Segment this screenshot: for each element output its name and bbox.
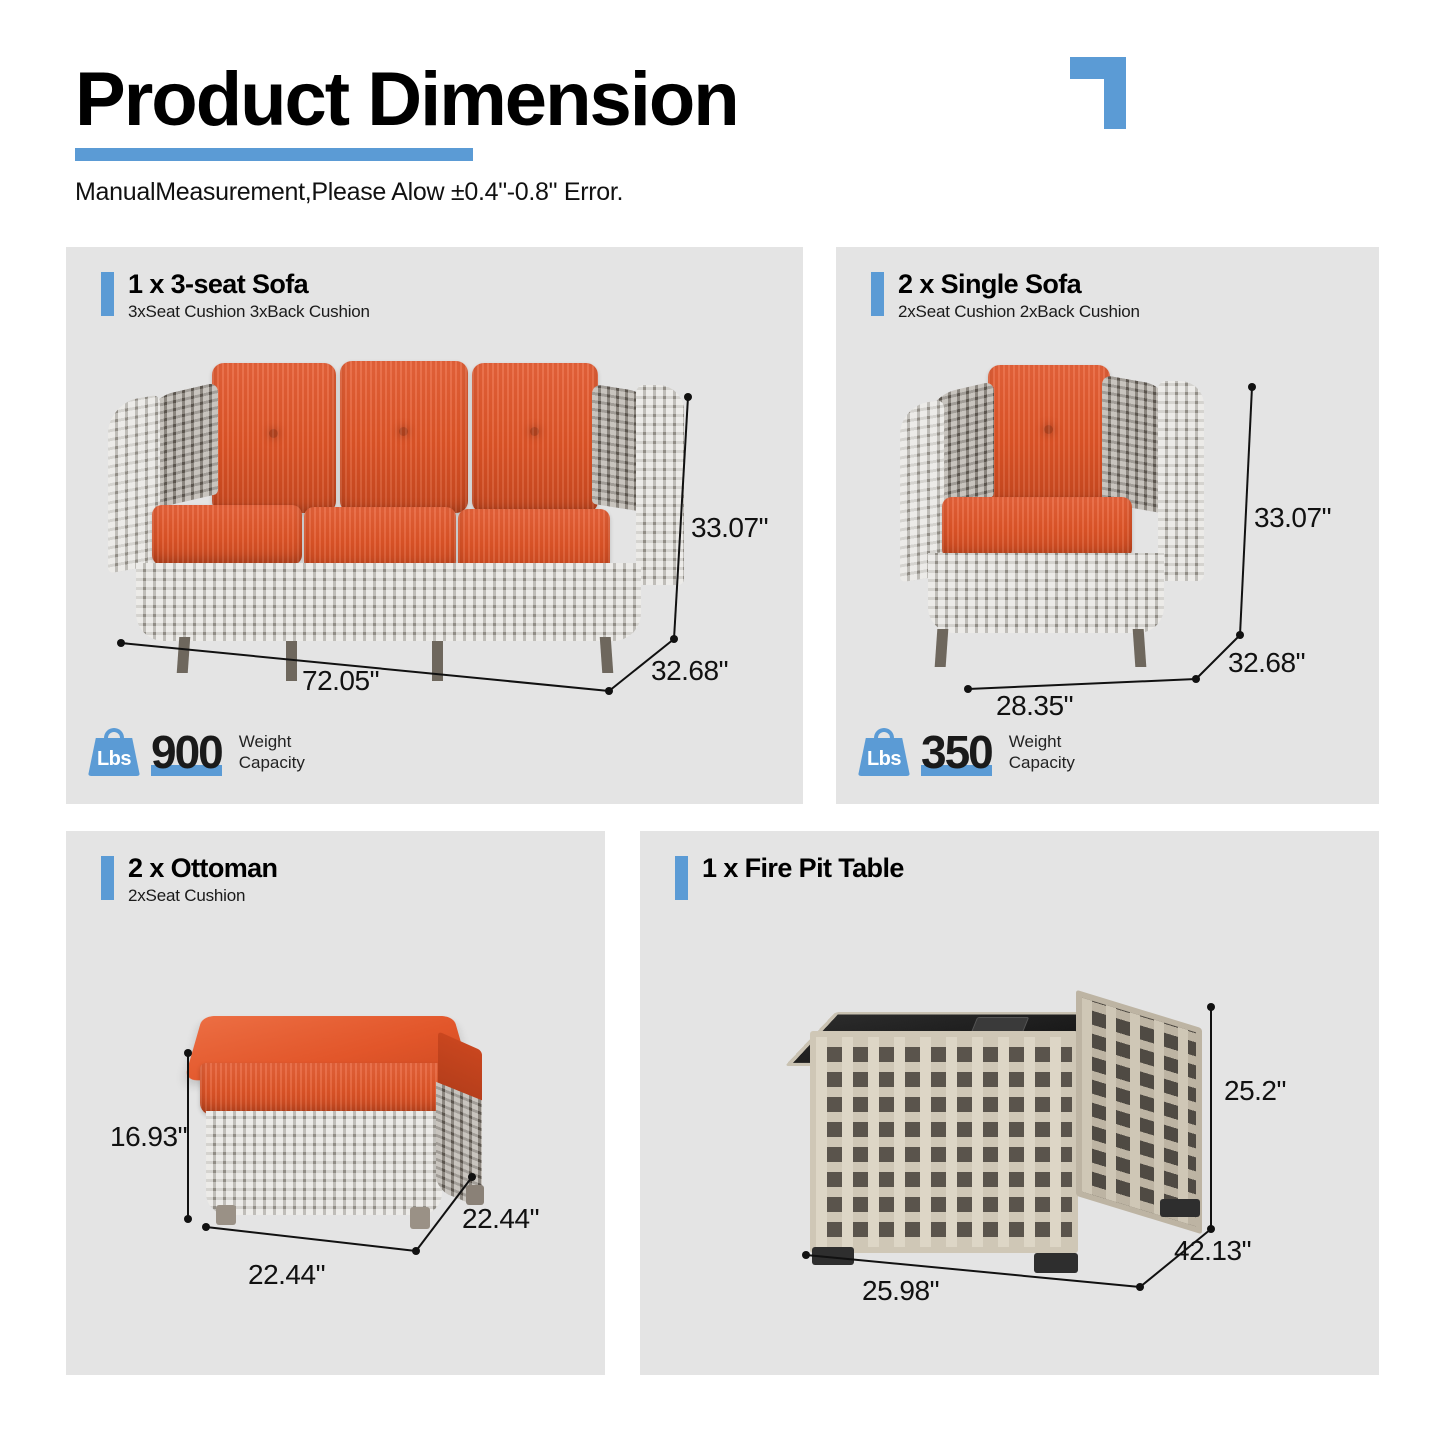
weight-lbs-icon: Lbs — [88, 728, 140, 776]
dimension-width-label: 72.05" — [302, 665, 379, 697]
ottoman-foot — [466, 1185, 484, 1205]
dimension-depth-label: 32.68" — [1228, 647, 1305, 679]
title-row: Product Dimension — [75, 62, 738, 138]
product-image-ottoman — [184, 999, 504, 1279]
product-dimension-infographic: Product Dimension ManualMeasurement,Plea… — [0, 0, 1445, 1445]
chair-base — [928, 553, 1164, 633]
card-header-single-sofa: 2 x Single Sofa 2xSeat Cushion 2xBack Cu… — [871, 269, 1140, 322]
weight-caption: Weight Capacity — [239, 731, 305, 774]
weight-caption-line1: Weight — [1009, 731, 1075, 752]
weight-capacity-badge: Lbs 900 Weight Capacity — [88, 728, 305, 776]
weight-unit-label: Lbs — [88, 748, 140, 771]
chair-leg — [935, 629, 949, 667]
dimension-height-label: 25.2" — [1224, 1075, 1286, 1107]
back-cushion — [212, 363, 336, 513]
table-foot — [812, 1247, 854, 1265]
seat-cushion — [942, 497, 1132, 559]
product-image-three-seat-sofa — [96, 355, 676, 655]
weight-value-wrap: 350 — [921, 729, 992, 775]
table-front-lattice — [810, 1031, 1078, 1253]
weight-value: 350 — [921, 729, 992, 775]
card-subtitle: 2xSeat Cushion 2xBack Cushion — [898, 302, 1140, 322]
card-header-ottoman: 2 x Ottoman 2xSeat Cushion — [101, 853, 277, 906]
header-accent-tick — [101, 272, 114, 316]
ottoman-foot — [410, 1207, 430, 1229]
corner-bracket-icon — [1070, 57, 1126, 129]
ottoman-foot — [216, 1205, 236, 1225]
back-cushion — [988, 365, 1110, 505]
dimension-width-label: 25.98" — [862, 1275, 939, 1307]
table-side-lattice — [1076, 990, 1202, 1235]
weight-lbs-icon: Lbs — [858, 728, 910, 776]
weight-value-wrap: 900 — [151, 729, 222, 775]
card-title: 2 x Single Sofa — [898, 269, 1140, 300]
page-header: Product Dimension — [75, 62, 1375, 138]
sofa-leg — [177, 637, 191, 673]
card-ottoman: 2 x Ottoman 2xSeat Cushion — [66, 831, 605, 1375]
card-title: 2 x Ottoman — [128, 853, 277, 884]
dimension-depth-label: 22.44" — [462, 1203, 539, 1235]
card-title: 1 x Fire Pit Table — [702, 853, 904, 884]
back-cushion — [340, 361, 468, 513]
header-accent-tick — [101, 856, 114, 900]
chair-arm-right — [1158, 381, 1204, 581]
product-image-single-sofa — [896, 357, 1216, 657]
dimension-height-label: 16.93" — [110, 1121, 187, 1153]
dimension-height-label: 33.07" — [691, 512, 768, 544]
weight-caption: Weight Capacity — [1009, 731, 1075, 774]
card-three-seat-sofa: 1 x 3-seat Sofa 3xSeat Cushion 3xBack Cu… — [66, 247, 803, 804]
ottoman-base-front — [206, 1111, 442, 1215]
back-cushion — [472, 363, 598, 513]
seat-cushion — [152, 505, 302, 565]
weight-unit-label: Lbs — [858, 748, 910, 771]
sofa-base — [136, 563, 641, 641]
product-image-fire-pit-table — [798, 989, 1218, 1299]
card-single-sofa: 2 x Single Sofa 2xSeat Cushion 2xBack Cu… — [836, 247, 1379, 804]
bracket-vertical-bar — [1104, 57, 1126, 129]
weight-value: 900 — [151, 729, 222, 775]
dimension-height-label: 33.07" — [1254, 502, 1331, 534]
dimension-depth-label: 42.13" — [1174, 1235, 1251, 1267]
table-foot — [1160, 1199, 1200, 1217]
header-accent-tick — [675, 856, 688, 900]
card-subtitle: 3xSeat Cushion 3xBack Cushion — [128, 302, 370, 322]
measurement-disclaimer: ManualMeasurement,Please Alow ±0.4"-0.8"… — [75, 178, 623, 207]
card-fire-pit-table: 1 x Fire Pit Table — [640, 831, 1379, 1375]
sofa-leg — [286, 641, 297, 681]
weight-caption-line2: Capacity — [239, 752, 305, 773]
title-underline-accent — [75, 148, 473, 161]
sofa-leg — [432, 641, 443, 681]
dimension-depth-label: 32.68" — [651, 655, 728, 687]
sofa-leg — [600, 637, 614, 673]
chair-leg — [1133, 629, 1147, 667]
weight-caption-line1: Weight — [239, 731, 305, 752]
card-subtitle: 2xSeat Cushion — [128, 886, 277, 906]
card-header-three-seat-sofa: 1 x 3-seat Sofa 3xSeat Cushion 3xBack Cu… — [101, 269, 370, 322]
weight-caption-line2: Capacity — [1009, 752, 1075, 773]
header-accent-tick — [871, 272, 884, 316]
sofa-arm-right — [636, 385, 684, 585]
card-header-fire-pit-table: 1 x Fire Pit Table — [675, 853, 904, 900]
weight-capacity-badge: Lbs 350 Weight Capacity — [858, 728, 1075, 776]
dimension-width-label: 22.44" — [248, 1259, 325, 1291]
card-title: 1 x 3-seat Sofa — [128, 269, 370, 300]
ottoman-cushion-front — [200, 1063, 444, 1115]
dimension-width-label: 28.35" — [996, 690, 1073, 722]
seat-cushion — [304, 507, 456, 571]
page-title: Product Dimension — [75, 62, 738, 138]
table-foot — [1034, 1253, 1078, 1273]
